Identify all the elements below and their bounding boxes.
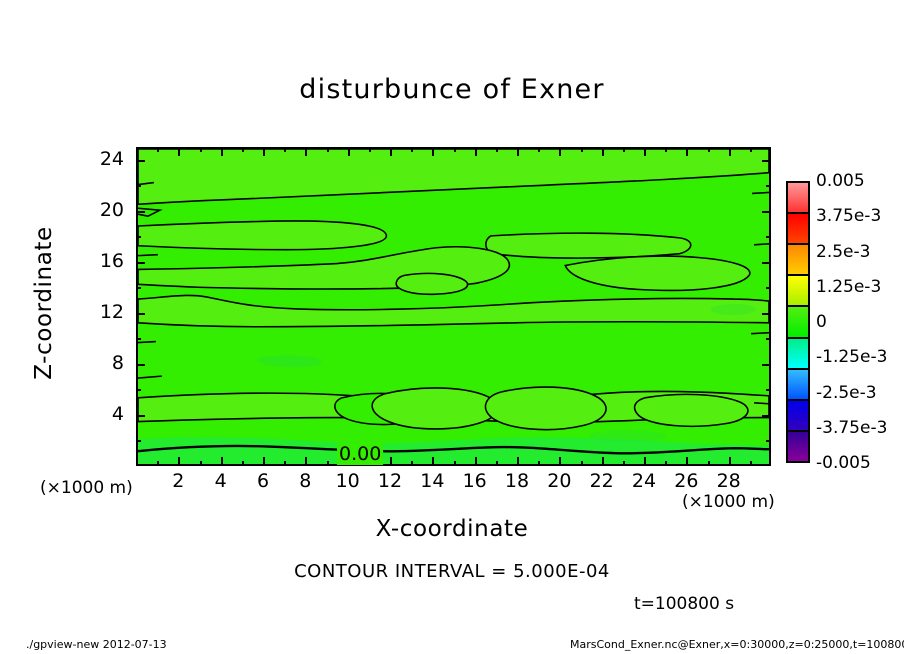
page-title: disturbunce of Exner bbox=[0, 74, 904, 105]
x-axis-tick-label: 2 bbox=[158, 470, 198, 492]
footer-command: ./gpview-new 2012-07-13 bbox=[26, 638, 167, 651]
x-axis-unit-left: (×1000 m) bbox=[40, 478, 133, 498]
colorbar-tick-label: 2.5e-3 bbox=[816, 242, 870, 262]
x-axis-tick-label: 26 bbox=[666, 470, 706, 492]
colorbar-band bbox=[788, 245, 808, 276]
footer-dataset: MarsCond_Exner.nc@Exner,x=0:30000,z=0:25… bbox=[570, 638, 904, 651]
colorbar-band bbox=[788, 370, 808, 401]
colorbar-tick-label: -0.005 bbox=[816, 453, 871, 473]
x-axis-tick-label: 12 bbox=[370, 470, 410, 492]
colorbar-band bbox=[788, 183, 808, 214]
x-axis-tick-label: 10 bbox=[328, 470, 368, 492]
y-axis-tick-label: 8 bbox=[86, 352, 124, 374]
y-axis-tick-label: 4 bbox=[86, 403, 124, 425]
contour-field bbox=[138, 149, 769, 464]
colorbar-tick-label: 0.005 bbox=[816, 171, 865, 191]
colorbar-band bbox=[788, 307, 808, 338]
colorbar-tick-label: 0 bbox=[816, 312, 827, 332]
colorbar-tick-label: 3.75e-3 bbox=[816, 206, 881, 226]
colorbar-band bbox=[788, 276, 808, 307]
x-axis-tick-label: 22 bbox=[582, 470, 622, 492]
x-axis-tick-label: 16 bbox=[455, 470, 495, 492]
contour-plot-area[interactable] bbox=[136, 147, 771, 466]
colorbar-tick-label: -1.25e-3 bbox=[816, 347, 887, 367]
colorbar[interactable] bbox=[786, 181, 810, 463]
timestamp-label: t=100800 s bbox=[634, 594, 734, 614]
contour-level-label: 0.00 bbox=[337, 443, 383, 465]
colorbar-tick-label: -3.75e-3 bbox=[816, 418, 887, 438]
colorbar-band bbox=[788, 401, 808, 432]
colorbar-band bbox=[788, 339, 808, 370]
x-axis-tick-label: 24 bbox=[624, 470, 664, 492]
x-axis-tick-label: 18 bbox=[497, 470, 537, 492]
x-axis-title: X-coordinate bbox=[0, 516, 904, 542]
colorbar-tick-label: -2.5e-3 bbox=[816, 383, 877, 403]
x-axis-tick-label: 14 bbox=[412, 470, 452, 492]
x-axis-tick-label: 6 bbox=[243, 470, 283, 492]
colorbar-band bbox=[788, 432, 808, 461]
x-axis-tick-label: 28 bbox=[709, 470, 749, 492]
y-axis-tick-label: 20 bbox=[86, 199, 124, 221]
y-axis-tick-label: 12 bbox=[86, 301, 124, 323]
y-axis-tick-label: 24 bbox=[86, 148, 124, 170]
x-axis-tick-label: 20 bbox=[539, 470, 579, 492]
x-axis-tick-label: 4 bbox=[201, 470, 241, 492]
x-axis-unit-right: (×1000 m) bbox=[682, 492, 775, 512]
x-axis-tick-label: 8 bbox=[285, 470, 325, 492]
colorbar-band bbox=[788, 214, 808, 245]
colorbar-tick-label: 1.25e-3 bbox=[816, 277, 881, 297]
contour-interval-note: CONTOUR INTERVAL = 5.000E-04 bbox=[0, 561, 904, 582]
y-axis-title: Z-coordinate bbox=[31, 213, 57, 393]
y-axis-tick-label: 16 bbox=[86, 250, 124, 272]
